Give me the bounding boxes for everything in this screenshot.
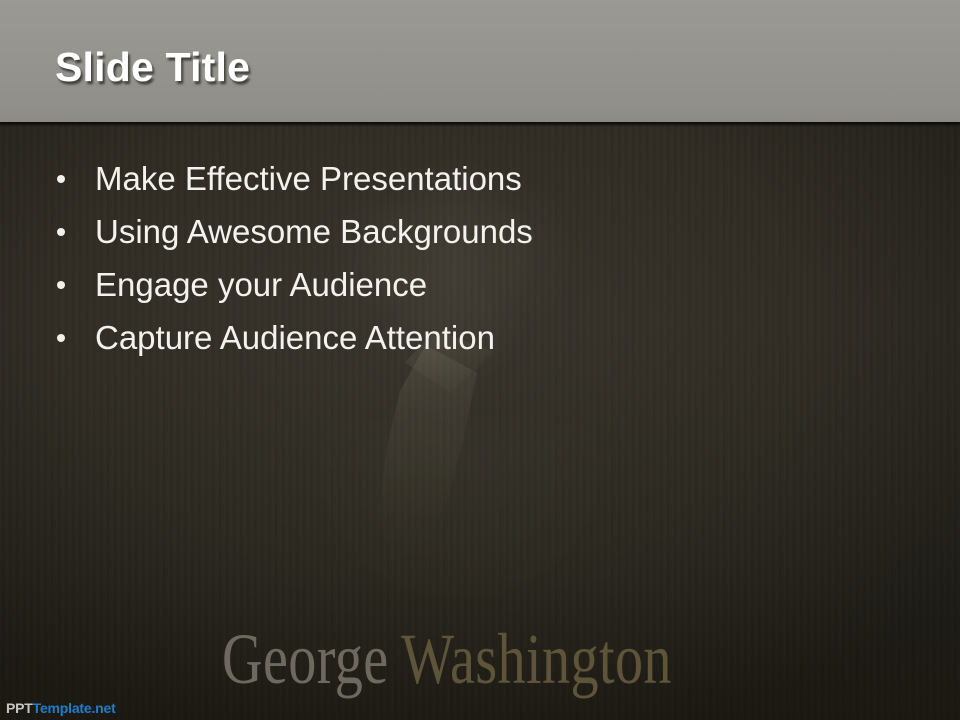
presentation-slide: GeorgeWashington Slide Title Make Effect… (0, 0, 960, 720)
ppttemplate-logo[interactable]: PPTTemplate.net (6, 700, 116, 716)
list-item[interactable]: Using Awesome Backgrounds (54, 205, 874, 258)
bullet-dot-icon (57, 228, 65, 236)
bullet-list: Make Effective Presentations Using Aweso… (54, 152, 874, 364)
artwork-name-last: Washington (401, 619, 672, 699)
bullet-dot-icon (57, 281, 65, 289)
list-item[interactable]: Make Effective Presentations (54, 152, 874, 205)
list-item-label: Make Effective Presentations (95, 160, 522, 197)
header-bottom-edge (0, 122, 960, 126)
logo-text-secondary: Template.net (33, 700, 116, 716)
bullet-dot-icon (57, 175, 65, 183)
bullet-dot-icon (57, 334, 65, 342)
list-item[interactable]: Engage your Audience (54, 258, 874, 311)
list-item[interactable]: Capture Audience Attention (54, 311, 874, 364)
artwork-name-first: George (222, 619, 389, 699)
list-item-label: Capture Audience Attention (95, 319, 495, 356)
logo-text-primary: PPT (6, 700, 33, 716)
artwork-name: GeorgeWashington (222, 623, 672, 695)
list-item-label: Engage your Audience (95, 266, 427, 303)
list-item-label: Using Awesome Backgrounds (95, 213, 533, 250)
page-title[interactable]: Slide Title (55, 44, 250, 91)
